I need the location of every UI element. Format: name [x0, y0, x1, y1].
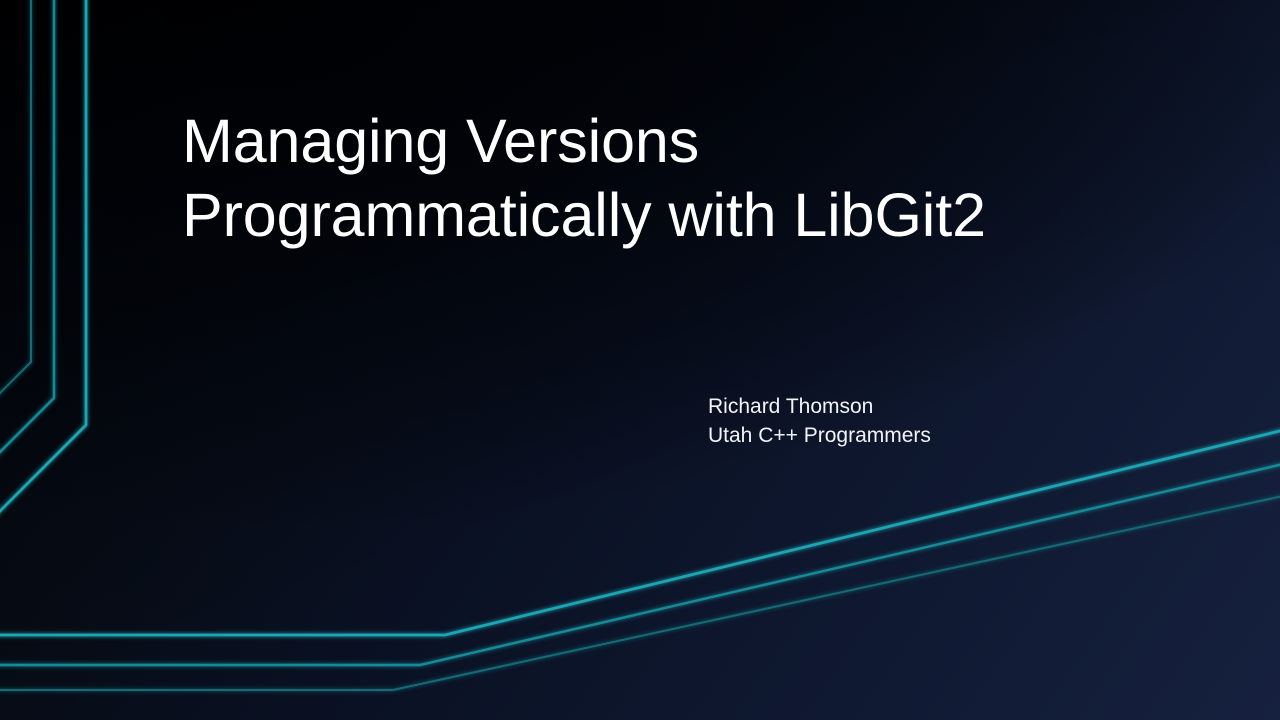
slide-subtitle: Richard Thomson Utah C++ Programmers	[708, 392, 1128, 450]
slide-content: Managing Versions Programmatically with …	[0, 0, 1280, 720]
title-line-2: Programmatically with LibGit2	[182, 178, 1132, 252]
slide-title: Managing Versions Programmatically with …	[182, 104, 1132, 252]
subtitle-presenter: Richard Thomson	[708, 392, 1128, 421]
title-line-1: Managing Versions	[182, 104, 1132, 178]
subtitle-organization: Utah C++ Programmers	[708, 421, 1128, 450]
title-slide: Managing Versions Programmatically with …	[0, 0, 1280, 720]
